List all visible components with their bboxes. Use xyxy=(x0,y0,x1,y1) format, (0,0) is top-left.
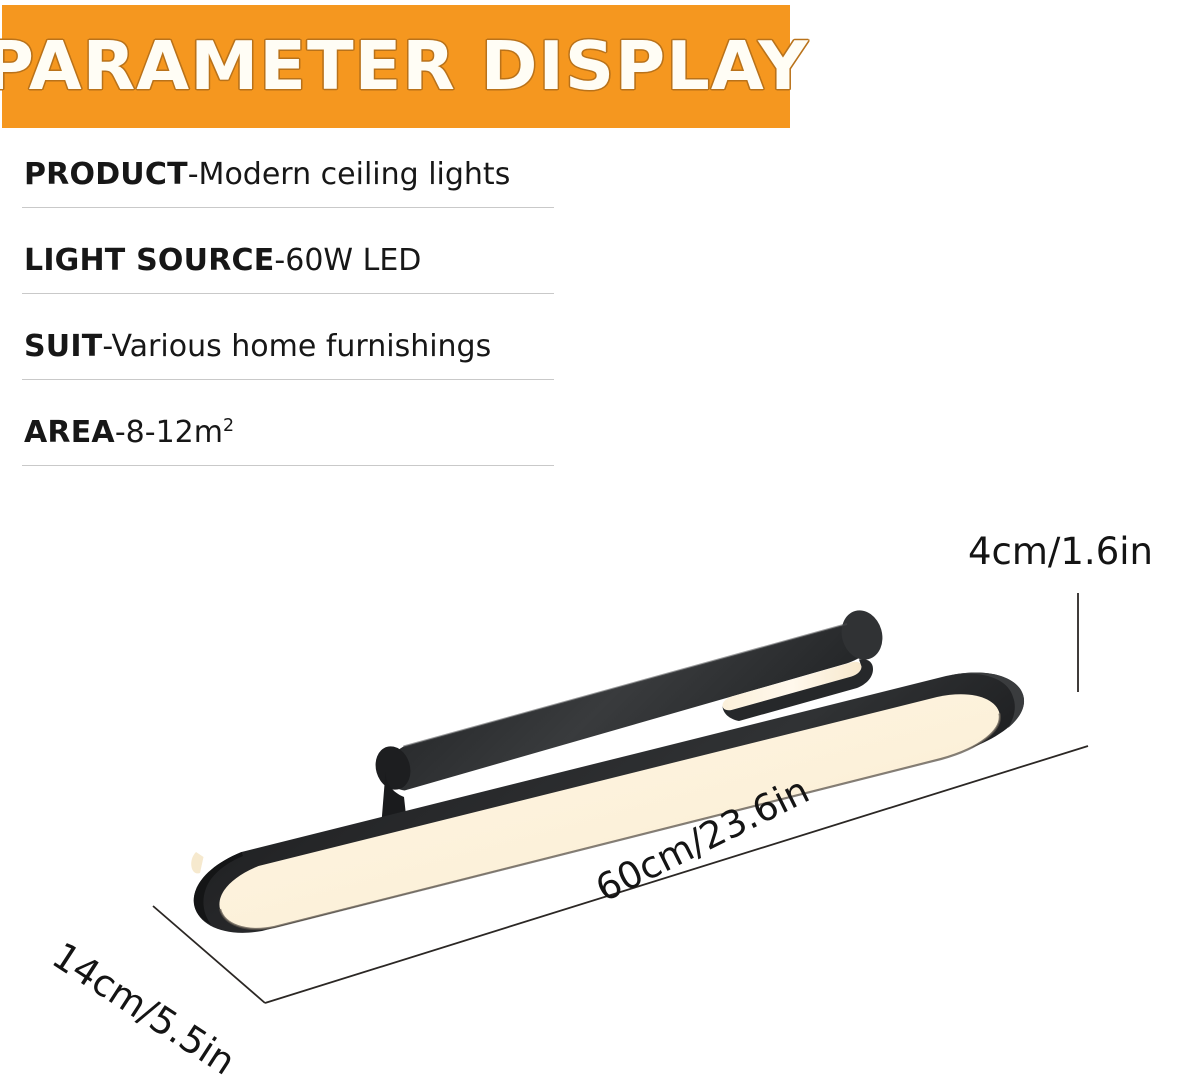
spec-value-light-source: -60W LED xyxy=(274,243,421,278)
spec-key-product: PRODUCT xyxy=(24,157,188,192)
spec-row-product: PRODUCT-Modern ceiling lights xyxy=(22,150,556,236)
left-end-accent-sliver xyxy=(191,852,203,873)
spec-divider xyxy=(22,207,554,208)
spec-value-area: -8-12m2 xyxy=(115,415,234,450)
spec-value-area-superscript: 2 xyxy=(223,416,234,436)
product-drawing xyxy=(0,500,1187,1080)
spec-row-light-source: LIGHT SOURCE-60W LED xyxy=(22,236,556,322)
spec-divider xyxy=(22,379,554,380)
parameter-display-banner: PARAMETER DISPLAY xyxy=(2,5,790,128)
spec-key-suit: SUIT xyxy=(24,329,102,364)
spec-value-product: -Modern ceiling lights xyxy=(188,157,511,192)
spec-divider xyxy=(22,465,554,466)
dimension-label-height: 4cm/1.6in xyxy=(968,530,1153,573)
product-illustration: 4cm/1.6in 60cm/23.6in 14cm/5.5in xyxy=(0,500,1187,1080)
spec-text-light-source: LIGHT SOURCE-60W LED xyxy=(24,242,421,280)
spec-key-light-source: LIGHT SOURCE xyxy=(24,243,274,278)
spec-row-area: AREA-8-12m2 xyxy=(22,408,556,494)
specification-list: PRODUCT-Modern ceiling lights LIGHT SOUR… xyxy=(22,150,556,494)
spec-value-suit: -Various home furnishings xyxy=(102,329,491,364)
spec-text-suit: SUIT-Various home furnishings xyxy=(24,328,491,366)
spec-row-suit: SUIT-Various home furnishings xyxy=(22,322,556,408)
spec-text-area: AREA-8-12m2 xyxy=(24,414,234,452)
spec-key-area: AREA xyxy=(24,415,115,450)
spec-divider xyxy=(22,293,554,294)
spec-text-product: PRODUCT-Modern ceiling lights xyxy=(24,156,510,194)
banner-title: PARAMETER DISPLAY xyxy=(0,33,808,100)
spec-value-area-text: -8-12m xyxy=(115,415,223,450)
